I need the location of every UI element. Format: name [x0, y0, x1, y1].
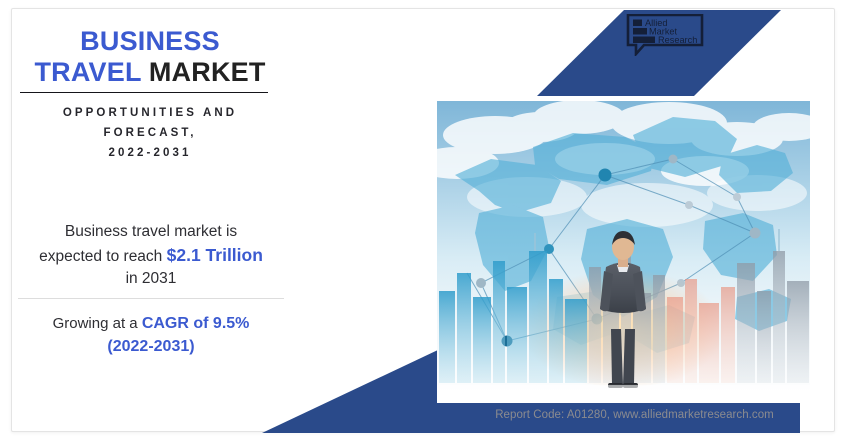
market-value-year: in 2031 — [126, 270, 177, 287]
market-value-statement: Business travel market is expected to re… — [8, 221, 294, 290]
title-word-market: MARKET — [149, 57, 266, 87]
subtitle-line-2: FORECAST, — [103, 127, 196, 139]
hero-image — [437, 101, 810, 403]
title-word-travel: TRAVEL — [34, 57, 141, 87]
market-value-lead: Business travel market is — [65, 223, 237, 240]
footer-report-code: Report Code: A01280, www.alliedmarketres… — [457, 409, 812, 421]
left-text-panel: BUSINESS TRAVEL MARKET — [12, 14, 288, 87]
logo-line-3: Research — [658, 35, 697, 45]
cagr-statement: Growing at a CAGR of 9.5% (2022-2031) — [8, 312, 294, 359]
stat-divider — [18, 298, 284, 299]
cagr-figure: CAGR of 9.5% — [142, 315, 250, 332]
hero-illustration — [437, 101, 810, 403]
allied-market-research-logo: Allied Market Research — [625, 14, 705, 56]
cagr-period: (2022-2031) — [107, 338, 194, 355]
report-subtitle: OPPORTUNITIES AND FORECAST, 2022-2031 — [12, 104, 288, 163]
subtitle-line-3: 2022-2031 — [109, 147, 192, 159]
subtitle-line-1: OPPORTUNITIES AND — [63, 107, 237, 119]
cagr-lead: Growing at a — [53, 315, 138, 332]
market-value-figure: $2.1 Trillion — [167, 245, 263, 265]
business-travel-market-infographic: Allied Market Research BUSINESS TRAVEL M… — [0, 0, 847, 445]
title-word-business: BUSINESS — [80, 26, 220, 56]
title-divider — [20, 92, 268, 93]
market-value-lead-2: expected to reach — [39, 248, 162, 265]
page-title: BUSINESS TRAVEL MARKET — [12, 26, 288, 87]
